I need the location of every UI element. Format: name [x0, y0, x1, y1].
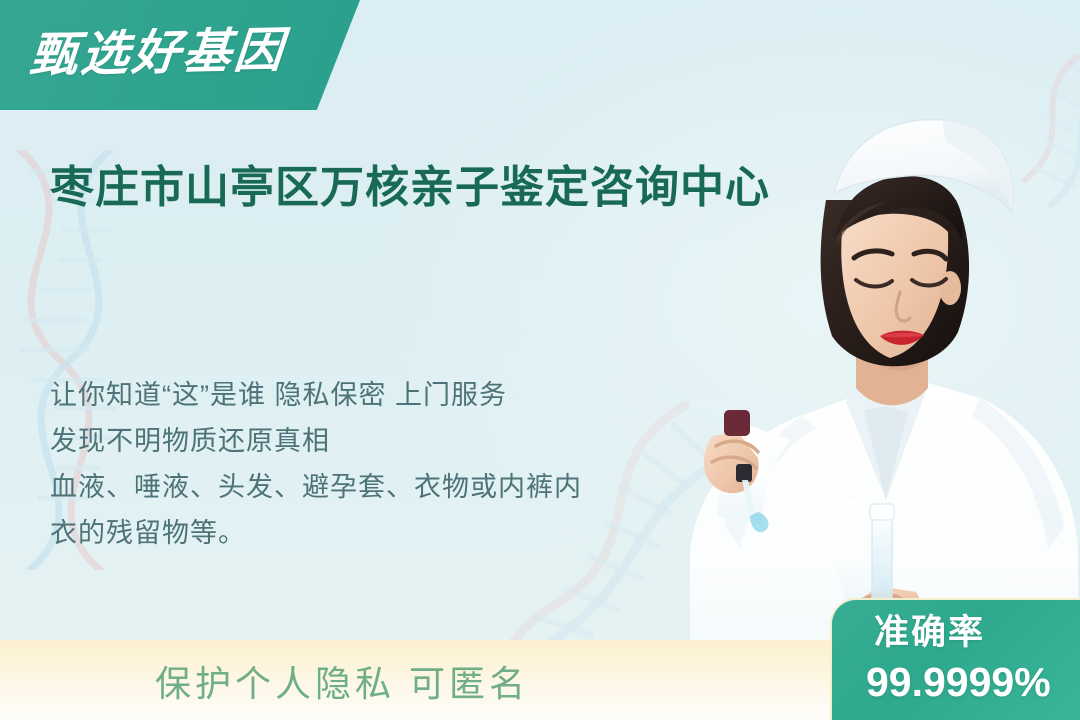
brand-banner-label: 甄选好基因: [27, 19, 288, 88]
page-title: 枣庄市山亭区万核亲子鉴定咨询中心: [50, 158, 860, 218]
body-line-4: 衣的残留物等。: [50, 510, 750, 556]
dna-helix-icon: [985, 55, 1080, 240]
privacy-slogan: 保护个人隐私 可匿名: [155, 656, 529, 712]
body-line-2: 发现不明物质还原真相: [50, 418, 750, 464]
accuracy-value: 99.9999%: [866, 656, 1051, 708]
body-line-3: 血液、唾液、头发、避孕套、衣物或内裤内: [50, 464, 750, 510]
banner-canvas: 甄选好基因: [0, 0, 1080, 720]
accuracy-label: 准确率: [874, 610, 985, 656]
body-line-1: 让你知道“这”是谁 隐私保密 上门服务: [50, 372, 750, 418]
accuracy-badge: 准确率 99.9999%: [830, 598, 1080, 720]
body-copy: 让你知道“这”是谁 隐私保密 上门服务 发现不明物质还原真相 血液、唾液、头发、…: [50, 372, 750, 556]
